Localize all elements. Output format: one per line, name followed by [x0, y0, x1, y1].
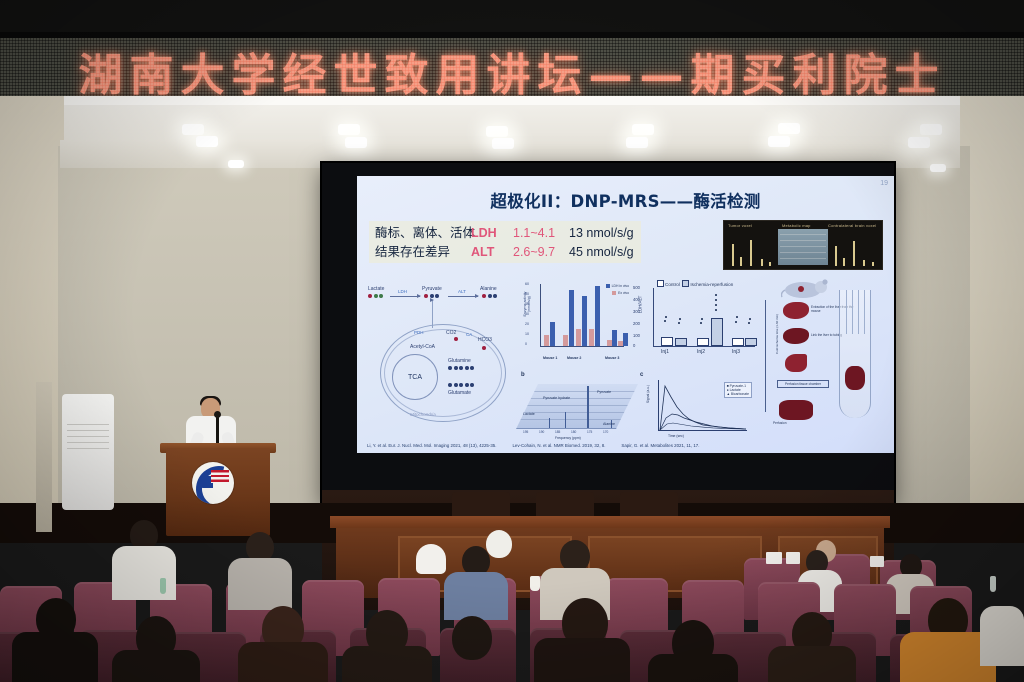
- bar: [582, 296, 587, 346]
- panel-tag-b: b: [521, 372, 525, 378]
- liver-step-4: [779, 400, 813, 420]
- enzyme-ldh: LDH: [398, 289, 407, 294]
- bar-legend-label: Ex vivo: [618, 291, 629, 295]
- desk-paper: [870, 556, 884, 567]
- node-glutamine: Glutamine: [448, 358, 471, 364]
- downlight: [778, 123, 800, 134]
- citation: Lev-Cohain, N. et al. NMR Biomed. 2019, …: [512, 443, 605, 448]
- col-x-tick: Inj2: [697, 349, 705, 355]
- audience-body: [112, 650, 200, 682]
- emblem-ring: [192, 462, 234, 504]
- node-pyruvate: Pyruvate: [422, 286, 442, 292]
- workflow-step-label: Perfusion tissue chamber: [777, 380, 829, 388]
- paper-cup: [530, 576, 540, 591]
- bar-legend-label: LDH in vivo: [612, 284, 629, 288]
- tumor-metabolic-map-figure: Tumor voxel Metabolic map Contralateral …: [723, 220, 883, 270]
- arrow-pyruvate-alanine: [448, 296, 478, 297]
- bar-y-tick: 40: [525, 302, 629, 306]
- node-acetyl-coa: Acetyl-CoA: [410, 344, 435, 350]
- spec-x-tick: 180: [571, 430, 576, 434]
- bar-legend-item-2: Ex vivo: [612, 291, 629, 295]
- hunan-university-emblem: [192, 462, 234, 504]
- grouped-bar-chart: Enzyme activity (nmol/s/g) 60 50 40 30 2…: [523, 280, 629, 368]
- downlight: [908, 137, 930, 148]
- stage-chair: [620, 492, 678, 518]
- liver-perfusion-workflow: Extraction of the liver from the mouse L…: [763, 276, 885, 432]
- spectrum-label-lactate: Lactate: [523, 412, 535, 416]
- column-control: [732, 338, 744, 346]
- minifig-label-c: Contralateral brain voxel: [828, 223, 876, 228]
- spec-x-tick: 185: [555, 430, 560, 434]
- fact-row: 结果存在差异ALT2.6~9.745 nmol/s/g: [375, 242, 634, 261]
- bar: [569, 290, 574, 346]
- enzyme-fact-box: 酶标、离体、活体LDH1.1~4.113 nmol/s/g 结果存在差异ALT2…: [369, 221, 641, 263]
- column-ischemia: [711, 318, 723, 346]
- downlight: [338, 124, 360, 135]
- audience-cap: [416, 544, 446, 574]
- citation: Li, Y. et al. Eur. J. Nucl. Med. Mol. Im…: [367, 443, 496, 448]
- audience-body: [648, 654, 738, 682]
- bar: [589, 329, 594, 346]
- citation: Sapir, G. et al. Metabolites 2021, 11, 1…: [621, 443, 699, 448]
- label-mitochondria: Mitochondria: [410, 412, 436, 417]
- bar: [563, 335, 568, 346]
- stage-chair: [452, 492, 510, 518]
- bar: [550, 322, 555, 346]
- label-hco3: HCO3: [478, 337, 492, 343]
- peak-lactate: [549, 418, 550, 428]
- spec-x-tick: 170: [603, 430, 608, 434]
- bar-group-label: Mouse 1: [543, 356, 557, 360]
- spec-x-tick: 175: [587, 430, 592, 434]
- slide-number: 19: [880, 180, 888, 187]
- waterfall-surface: [516, 384, 638, 429]
- workflow-axis-label: Cold ischemia time (1-60 min): [775, 304, 779, 364]
- spec-x-label: Frequency (ppm): [555, 436, 581, 440]
- audience-body: [228, 558, 292, 610]
- downlight: [345, 137, 367, 148]
- bar: [595, 286, 600, 346]
- fact-value: 45 nmol/s/g: [569, 243, 634, 262]
- slide-citations: Li, Y. et al. Eur. J. Nucl. Med. Mol. Im…: [367, 443, 886, 448]
- column-ischemia: [675, 338, 687, 346]
- mouse-illustration: [781, 278, 837, 300]
- nmr-tube: [839, 290, 871, 418]
- audience-body: [342, 646, 432, 682]
- audience-area: [0, 520, 1024, 682]
- col-x-tick: Inj3: [732, 349, 740, 355]
- enzyme-alt: ALT: [458, 289, 466, 294]
- node-lactate: Lactate: [368, 286, 384, 292]
- minifig-spectrum-left: [728, 238, 774, 266]
- arrow-lactate-pyruvate: [390, 296, 420, 297]
- wall-panel-right: [892, 146, 970, 506]
- audience-body: [768, 646, 856, 682]
- spec-x-tick: 195: [523, 430, 528, 434]
- slide-title: 超极化II：DNP-MRS——酶活检测: [357, 188, 894, 212]
- audience-body: [980, 606, 1024, 666]
- desk-paper: [786, 552, 800, 564]
- tca-cycle: TCA: [392, 354, 438, 400]
- column-control: [697, 338, 709, 346]
- downlight: [492, 138, 514, 149]
- downlight: [632, 124, 654, 135]
- bar-group-label: Mouse 3: [605, 356, 619, 360]
- stage-chair: [536, 492, 594, 518]
- spectrum-label-pyruvate: Pyruvate: [597, 390, 611, 394]
- enzyme-pdh: PDH: [414, 330, 424, 335]
- microphone: [216, 415, 219, 445]
- bar-y-tick: 30: [525, 312, 629, 316]
- emblem-stripes: [211, 470, 229, 483]
- ceiling-shadow-strip: [0, 0, 1024, 34]
- downlight: [196, 136, 218, 147]
- kinetics-x-label: Time (sec): [668, 434, 684, 438]
- node-glutamate: Glutamate: [448, 390, 471, 396]
- wall-left: [0, 96, 64, 536]
- peak-pyruvate-hydrate: [565, 412, 566, 428]
- audience-head: [452, 616, 492, 660]
- node-alanine: Alanine: [480, 286, 497, 292]
- bar-group-label: Mouse 2: [567, 356, 581, 360]
- bar-chart-x-axis: [540, 346, 624, 347]
- bar: [623, 333, 628, 346]
- downlight: [626, 137, 648, 148]
- glutamate-carbons: [448, 383, 474, 387]
- downlight: [182, 124, 204, 135]
- fact-label: 结果存在差异: [375, 242, 471, 261]
- workflow-axis-line: [765, 300, 766, 412]
- fact-enzyme: ALT: [471, 243, 513, 262]
- column-ischemia: [745, 338, 757, 346]
- wall-pillar: [36, 382, 52, 532]
- arrow-pyruvate-into-cell: [432, 300, 433, 328]
- downlight: [920, 124, 942, 135]
- peak-pyruvate: [587, 386, 589, 428]
- ceiling-lip: [0, 96, 1024, 105]
- lecture-hall-photo: 湖南大学经世致用讲坛——期买利院士 19 超极化II：DNP-MRS——酶活检测…: [0, 0, 1024, 682]
- glutamine-carbons: [448, 366, 474, 370]
- fact-range: 1.1~4.1: [513, 224, 569, 243]
- presentation-slide: 19 超极化II：DNP-MRS——酶活检测 酶标、离体、活体LDH1.1~4.…: [357, 176, 894, 453]
- audience-body: [12, 632, 98, 682]
- col-x-tick: Inj1: [661, 349, 669, 355]
- metabolite-kinetics-chart: c ■ Pyruvate-1 ● Lactate ▲ Bicarbonate S…: [638, 372, 754, 444]
- lactate-carbons: [368, 294, 383, 298]
- led-banner-text: 湖南大学经世致用讲坛——期买利院士: [0, 39, 1024, 103]
- downlight: [486, 126, 508, 137]
- fact-row: 酶标、离体、活体LDH1.1~4.113 nmol/s/g: [375, 223, 634, 242]
- minifig-metabolic-map: [778, 229, 828, 265]
- hco3-dot: [482, 346, 486, 350]
- kinetics-y-label: Signal (a.u.): [646, 372, 650, 416]
- col-y-tick: 200: [633, 321, 761, 326]
- audience-body: [238, 642, 328, 682]
- spectrum-label-pyruvate-hydrate: Pyruvate hydrate: [543, 396, 570, 400]
- desk-paper: [766, 552, 782, 564]
- kinetics-legend-item: ▲ Bicarbonate: [727, 392, 749, 396]
- liver-step-2: [783, 328, 809, 344]
- audience-body: [444, 572, 508, 620]
- water-bottle: [990, 576, 996, 592]
- column-control: [661, 337, 673, 346]
- spec-x-tick: 190: [539, 430, 544, 434]
- fact-enzyme: LDH: [471, 224, 513, 243]
- panel-tag-c: c: [640, 372, 643, 378]
- bar: [544, 335, 549, 346]
- col-y-tick: 500: [633, 285, 761, 290]
- bar-legend-item-1: LDH in vivo: [606, 284, 629, 288]
- col-y-tick: 400: [633, 297, 761, 302]
- bar-y-tick: 20: [525, 322, 629, 326]
- spectrum-label-alanine: Alanine: [603, 422, 615, 426]
- downlight: [930, 164, 946, 172]
- metabolic-pathway-diagram: Lactate Pyruvate Alanine LDH ALT PDH Ace…: [366, 280, 516, 428]
- alanine-carbons: [482, 294, 497, 298]
- minifig-label-a: Tumor voxel: [728, 223, 752, 228]
- audience-body: [534, 638, 630, 682]
- bar: [576, 329, 581, 346]
- fact-value: 13 nmol/s/g: [569, 224, 634, 243]
- audience-head: [486, 530, 512, 558]
- audience-body: [112, 546, 176, 600]
- col-y-tick: 300: [633, 309, 761, 314]
- minifig-label-b: Metabolic map: [782, 223, 811, 228]
- label-co2: CO2: [446, 330, 456, 336]
- liver-step-1: [783, 302, 809, 319]
- air-conditioner: [62, 394, 114, 510]
- bar: [612, 330, 617, 346]
- downlight: [228, 160, 244, 168]
- fact-range: 2.6~9.7: [513, 243, 569, 262]
- enzyme-ca: CA: [466, 332, 472, 337]
- minifig-spectrum-right: [832, 238, 878, 266]
- co2-dot: [454, 337, 458, 341]
- ldh-alt-ratio-chart: Control Ischemia-reperfusion LDH/ALT 500…: [631, 280, 761, 366]
- liver-step-3: [785, 354, 807, 372]
- workflow-step-label: Perfusion: [773, 422, 819, 426]
- fact-label: 酶标、离体、活体: [375, 223, 471, 242]
- kinetics-legend: ■ Pyruvate-1 ● Lactate ▲ Bicarbonate: [724, 382, 752, 398]
- downlight: [768, 136, 790, 147]
- nmr-waterfall-spectrum: b Lactate Pyruvate hydrate Pyruvate Alan…: [521, 372, 633, 444]
- water-bottle: [160, 578, 166, 594]
